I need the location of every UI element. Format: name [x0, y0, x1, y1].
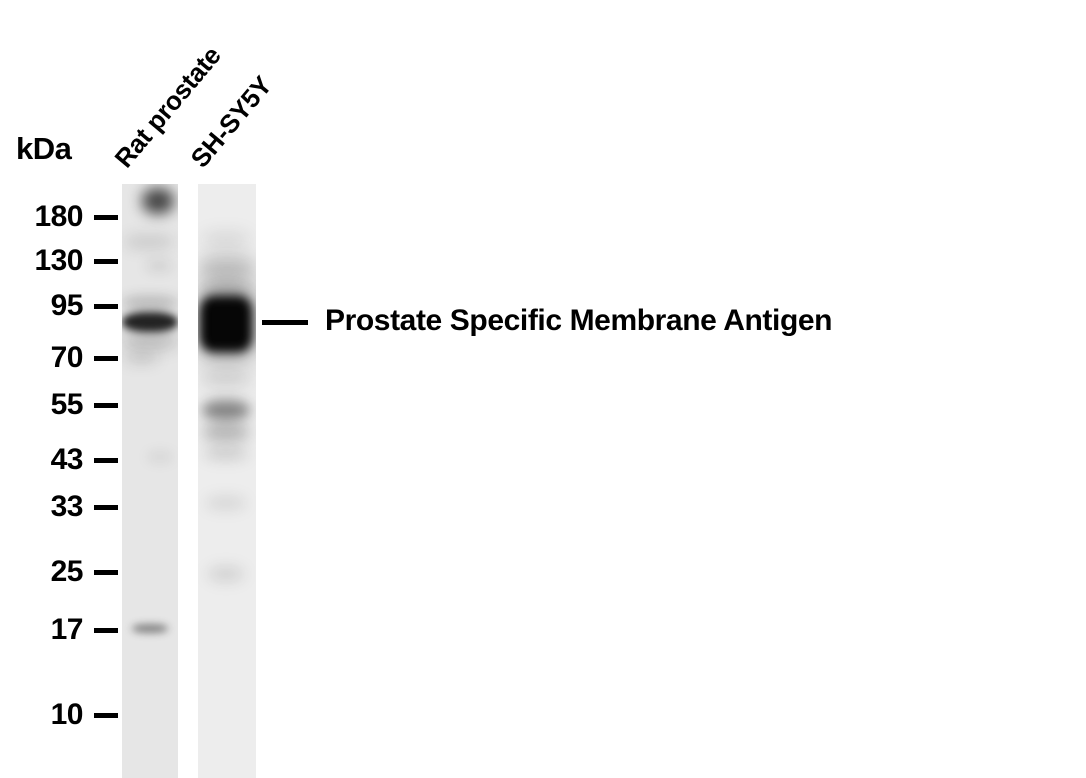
- ladder-value-label: 180: [34, 202, 83, 232]
- ladder-marker-130: 130: [0, 246, 118, 276]
- blot-lane-sh-sy5y: [198, 184, 256, 778]
- ladder-marker-33: 33: [0, 492, 118, 522]
- annotation-protein-name: Prostate Specific Membrane Antigen: [325, 306, 832, 336]
- annotation-pointer-dash: [262, 320, 308, 325]
- band-faint-43: [204, 446, 248, 460]
- band-faint-65: [200, 370, 252, 388]
- western-blot-figure: kDa 1801309570554333251710 Rat prostate …: [0, 0, 1086, 778]
- band-faint-160: [202, 232, 250, 248]
- ladder-value-label: 95: [51, 291, 83, 321]
- ladder-value-label: 130: [34, 246, 83, 276]
- band-main-band-85: [122, 312, 178, 332]
- ladder-marker-55: 55: [0, 390, 118, 420]
- ladder-value-label: 25: [51, 557, 83, 587]
- ladder-tick-mark: [94, 505, 118, 510]
- band-faint-130: [124, 234, 174, 250]
- ladder-marker-10: 10: [0, 700, 118, 730]
- band-faint-33: [206, 496, 246, 510]
- ladder-marker-25: 25: [0, 557, 118, 587]
- ladder-marker-17: 17: [0, 615, 118, 645]
- band-faint-25: [208, 566, 244, 582]
- band-band-17: [132, 624, 168, 633]
- ladder-value-label: 33: [51, 492, 83, 522]
- lane-membrane-background: [122, 184, 178, 778]
- ladder-marker-43: 43: [0, 445, 118, 475]
- band-band-48: [202, 424, 250, 440]
- ladder-tick-mark: [94, 570, 118, 575]
- ladder-value-label: 10: [51, 700, 83, 730]
- ladder-marker-95: 95: [0, 291, 118, 321]
- band-shoulder-100: [122, 296, 178, 310]
- blot-lane-rat-prostate: [122, 184, 178, 778]
- band-faint-43: [148, 452, 172, 462]
- ladder-value-label: 43: [51, 445, 83, 475]
- ladder-value-label: 70: [51, 343, 83, 373]
- ladder-tick-mark: [94, 259, 118, 264]
- band-smudge-180: [142, 188, 174, 214]
- ladder-tick-mark: [94, 713, 118, 718]
- band-faint-70: [124, 352, 158, 364]
- band-halo-80: [122, 330, 178, 350]
- ladder-tick-mark: [94, 628, 118, 633]
- ladder-tick-mark: [94, 356, 118, 361]
- molecular-weight-ladder: 1801309570554333251710: [0, 0, 120, 778]
- band-blob-halo: [198, 288, 256, 360]
- ladder-tick-mark: [94, 458, 118, 463]
- ladder-tick-mark: [94, 304, 118, 309]
- ladder-value-label: 17: [51, 615, 83, 645]
- ladder-tick-mark: [94, 403, 118, 408]
- ladder-tick-mark: [94, 215, 118, 220]
- ladder-marker-70: 70: [0, 343, 118, 373]
- ladder-value-label: 55: [51, 390, 83, 420]
- band-faint-110: [146, 260, 172, 272]
- band-smear-130: [198, 256, 256, 278]
- ladder-marker-180: 180: [0, 202, 118, 232]
- band-band-55: [202, 400, 250, 420]
